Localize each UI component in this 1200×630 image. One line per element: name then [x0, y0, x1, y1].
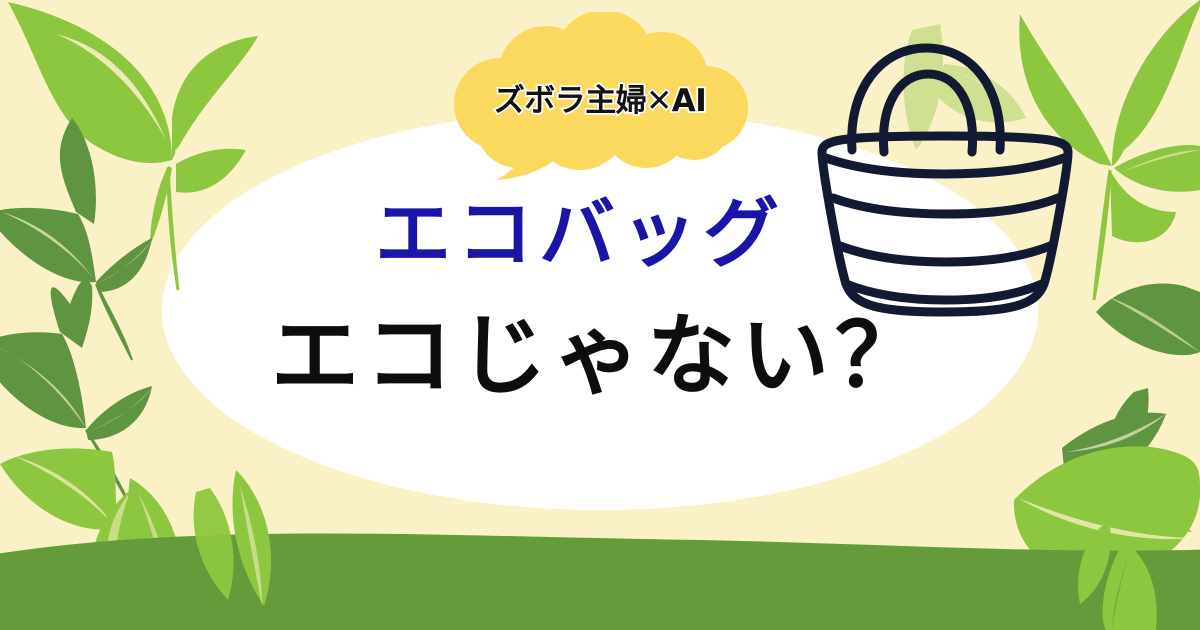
badge-label: ズボラ主婦✕AI — [440, 86, 760, 117]
badge-speech-bubble: ズボラ主婦✕AI — [440, 12, 760, 187]
tote-bag-shape — [800, 22, 1090, 322]
title-line-2: エコじゃない？ — [0, 312, 1200, 400]
bag-stripe-2 — [840, 246, 1050, 262]
bag-stripe-3 — [846, 284, 1042, 300]
bag-rim-line — [826, 158, 1064, 174]
tote-bag-illustration — [800, 22, 1090, 322]
thumbnail-canvas: ズボラ主婦✕AI エコバッグ エコじゃない？ — [0, 0, 1200, 630]
bag-stripe-1 — [833, 198, 1058, 214]
